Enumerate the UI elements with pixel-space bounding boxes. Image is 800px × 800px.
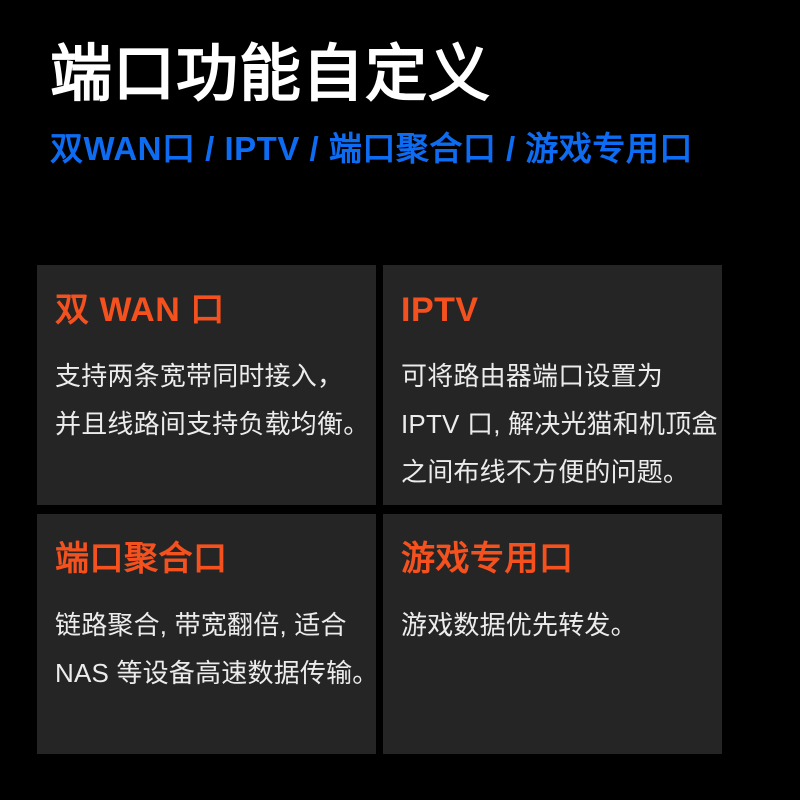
page-title: 端口功能自定义 (50, 42, 770, 107)
feature-card-dual-wan: 双 WAN 口 支持两条宽带同时接入， 并且线路间支持负载均衡。 (37, 265, 376, 505)
feature-card-grid: 双 WAN 口 支持两条宽带同时接入， 并且线路间支持负载均衡。 IPTV 可将… (37, 265, 763, 755)
feature-card-body-line: 支持两条宽带同时接入， (55, 352, 358, 400)
feature-card-body-line: 链路聚合, 带宽翻倍, 适合 (55, 601, 358, 649)
feature-card-body: 游戏数据优先转发。 (401, 601, 704, 649)
feature-card-heading: 游戏专用口 (401, 540, 704, 579)
promo-page: 端口功能自定义 双WAN口 / IPTV / 端口聚合口 / 游戏专用口 双 W… (0, 0, 800, 800)
feature-card-heading: IPTV (401, 291, 704, 330)
feature-card-body-line: IPTV 口, 解决光猫和机顶盒 (401, 400, 704, 448)
feature-card-body-line: 并且线路间支持负载均衡。 (55, 400, 358, 448)
feature-card-body-line: 可将路由器端口设置为 (401, 352, 704, 400)
feature-card-heading: 双 WAN 口 (55, 291, 358, 330)
feature-card-body-line: NAS 等设备高速数据传输。 (55, 649, 358, 697)
feature-card-link-aggregation: 端口聚合口 链路聚合, 带宽翻倍, 适合 NAS 等设备高速数据传输。 (37, 514, 376, 754)
feature-card-body: 支持两条宽带同时接入， 并且线路间支持负载均衡。 (55, 352, 358, 448)
feature-card-iptv: IPTV 可将路由器端口设置为 IPTV 口, 解决光猫和机顶盒 之间布线不方便… (383, 265, 722, 505)
feature-card-body: 链路聚合, 带宽翻倍, 适合 NAS 等设备高速数据传输。 (55, 601, 358, 697)
feature-card-body-line: 之间布线不方便的问题。 (401, 448, 704, 496)
page-subtitle: 双WAN口 / IPTV / 端口聚合口 / 游戏专用口 (50, 131, 770, 167)
page-header: 端口功能自定义 双WAN口 / IPTV / 端口聚合口 / 游戏专用口 (50, 42, 770, 167)
feature-card-body: 可将路由器端口设置为 IPTV 口, 解决光猫和机顶盒 之间布线不方便的问题。 (401, 352, 704, 496)
feature-card-heading: 端口聚合口 (55, 540, 358, 579)
feature-card-gaming-port: 游戏专用口 游戏数据优先转发。 (383, 514, 722, 754)
feature-card-body-line: 游戏数据优先转发。 (401, 601, 704, 649)
